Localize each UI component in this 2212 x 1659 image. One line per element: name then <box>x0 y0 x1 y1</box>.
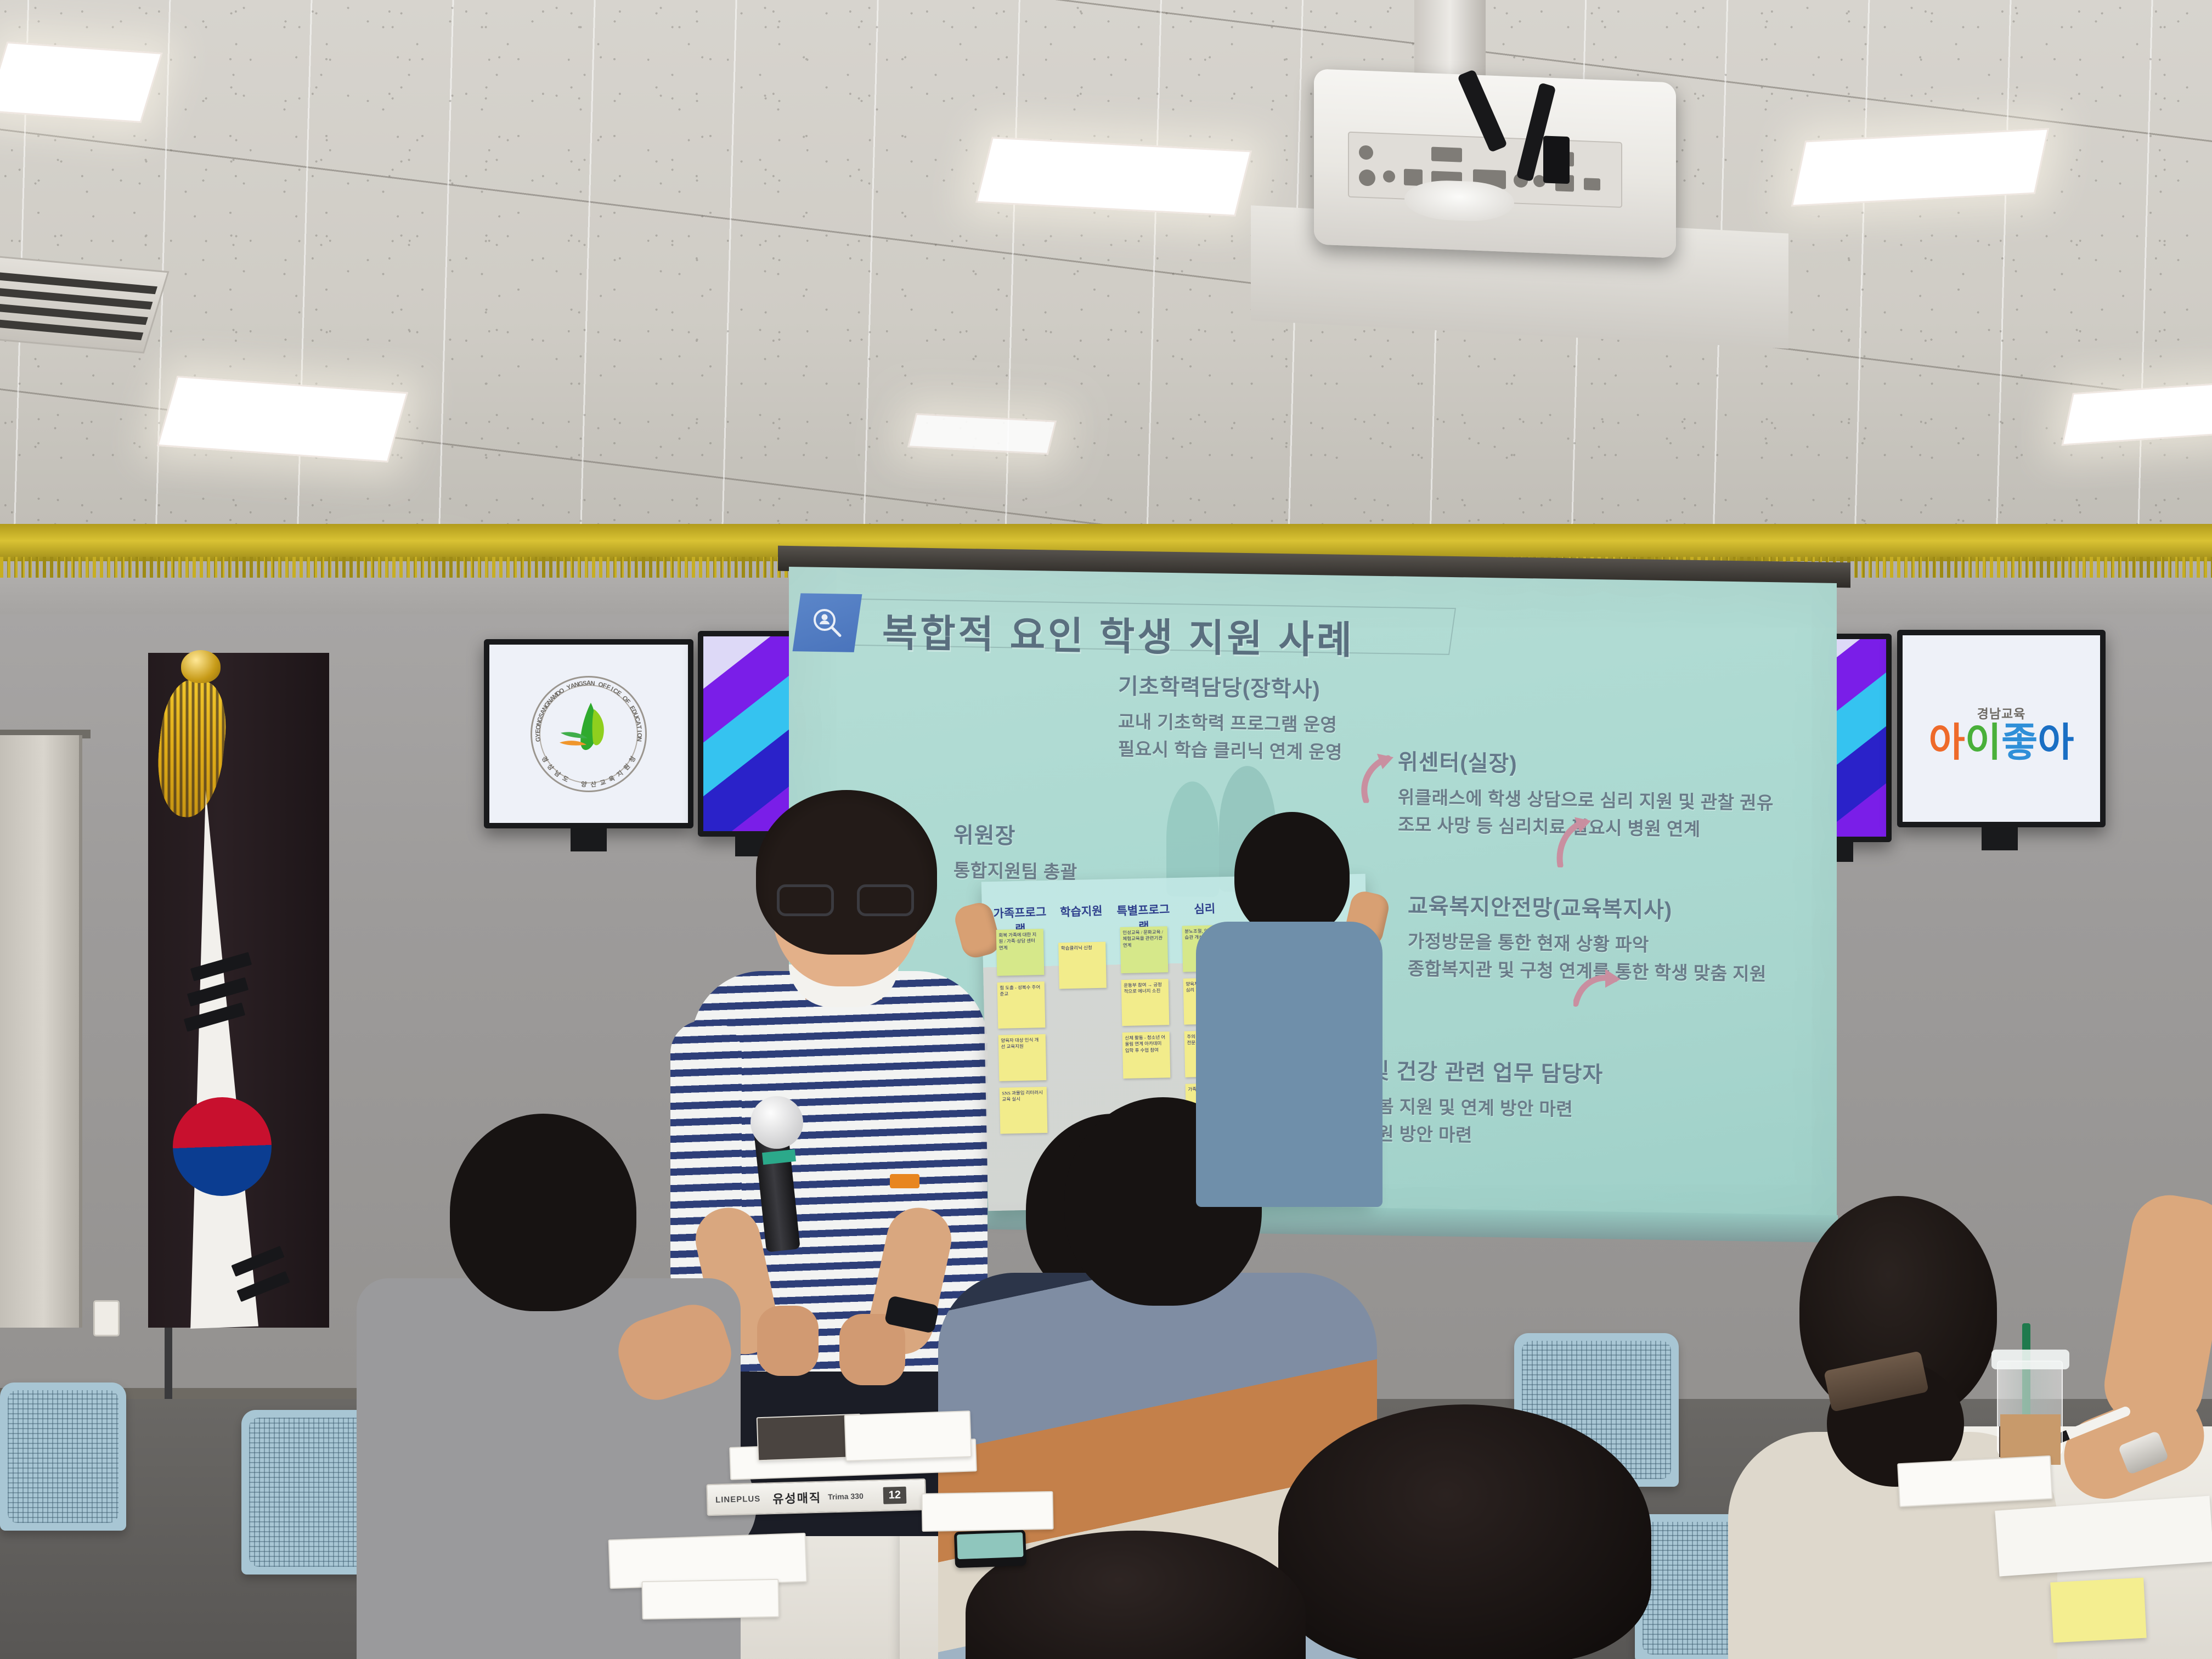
logo-main-text: 아이좋아 <box>1919 724 2084 761</box>
sticky-note: 양육자 대상 인식 개선 교육지원 <box>998 1034 1046 1081</box>
slide-block-heading: 위센터(실장) <box>1398 744 1831 782</box>
slide-title: 복합적 요인 학생 지원 사례 <box>882 602 1442 667</box>
sticky-note: 신체 활동 - 청소년 어울림 연계 아카데미 입학 후 수업 참여 <box>1122 1031 1170 1079</box>
monitor-left-screen: GYEONGSANGNAMDO YANGSAN OFFICE OF EDUCAT… <box>489 645 688 823</box>
sticky-note: 힘 도출 - 성복수 주어 준교 <box>997 981 1045 1029</box>
curved-arrow-icon <box>1356 750 1407 803</box>
projector-icon <box>1314 69 1676 258</box>
flag-finial-icon <box>181 650 221 683</box>
conference-room-photo: GYEONGSANGNAMDO YANGSAN OFFICE OF EDUCAT… <box>0 0 2212 1659</box>
hvac-vent-icon <box>0 256 170 354</box>
logo-subtitle: 경남교육 <box>1919 703 2084 722</box>
chair[interactable] <box>0 1383 126 1531</box>
slide-block-heading: 기초학력담당(장학사) <box>1118 668 1458 706</box>
slide-block-heading: 교육복지안전망(교육복지사) <box>1408 888 1847 927</box>
monitor-right-stand <box>1982 827 2018 850</box>
seal-ring-text: GYEONGSANGNAMDO YANGSAN OFFICE OF EDUCAT… <box>532 678 645 791</box>
cup-lid <box>1991 1350 2069 1369</box>
glasses-icon <box>777 884 914 917</box>
ceiling-light-panel <box>0 42 162 123</box>
sticky-note: 회복 가족에 대한 지원 / 가족·상담 센터 연계 <box>996 929 1044 976</box>
ceiling-texture <box>0 0 2212 582</box>
paper-box <box>641 1579 779 1620</box>
assistant-holding-poster <box>1174 812 1404 1196</box>
ceiling-light-panel <box>975 137 1252 216</box>
attendee-front <box>1278 1404 1651 1659</box>
ceiling <box>0 0 2212 582</box>
slide-block-wee-center: 위센터(실장) 위클래스에 학생 상담으로 심리 지원 및 관찰 권유 조모 사… <box>1398 744 1831 845</box>
product-box <box>844 1410 972 1462</box>
marker-model: Trima 330 <box>821 1492 864 1502</box>
shirt-logo <box>890 1174 919 1188</box>
sticky-note: 운동부 참여 → 긍정적으로 에너지 소진 <box>1121 979 1169 1026</box>
sticky-note: 학습클리닉 신청 <box>1058 942 1107 989</box>
head <box>450 1114 636 1311</box>
head <box>1278 1404 1651 1659</box>
gyeongnam-education-logo: 경남교육 아이좋아 <box>1919 703 2084 761</box>
curved-arrow-icon <box>1553 815 1603 868</box>
wall-outlet-icon <box>93 1300 120 1336</box>
presenter-hand <box>757 1306 819 1376</box>
smartphone-icon[interactable] <box>954 1530 1026 1568</box>
monitor-right-screen: 경남교육 아이좋아 <box>1903 635 2100 822</box>
education-office-seal-icon: GYEONGSANGNAMDO YANGSAN OFFICE OF EDUCAT… <box>531 676 647 792</box>
curved-arrow-icon <box>1573 963 1624 1016</box>
person-search-icon <box>793 593 862 652</box>
sticky-note-pad[interactable] <box>2050 1578 2147 1643</box>
ceiling-light-panel <box>1791 128 2049 206</box>
monitor-left-stand <box>571 828 607 851</box>
room-door[interactable] <box>0 735 82 1328</box>
marker-box[interactable]: LINEPLUS 유성매직 Trima 330 12 <box>706 1479 926 1516</box>
presenter-hair <box>756 790 937 955</box>
monitor-right[interactable]: 경남교육 아이좋아 <box>1897 630 2106 827</box>
torso <box>1196 922 1383 1207</box>
marker-count: 12 <box>883 1486 906 1504</box>
paper-stack <box>1897 1455 2053 1508</box>
marker-brand: LINEPLUS <box>708 1494 761 1505</box>
sticky-note: 인성교육 / 문화교육 / 체험교육을 관련기관 연계 <box>1120 926 1168 973</box>
monitor-left[interactable]: GYEONGSANGNAMDO YANGSAN OFFICE OF EDUCAT… <box>484 639 693 828</box>
marker-title: 유성매직 <box>760 1488 822 1508</box>
slide-block-edu-welfare-net: 교육복지안전망(교육복지사) 가정방문을 통한 현재 상황 파악 종합복지관 및… <box>1408 888 1847 990</box>
head <box>1234 812 1350 938</box>
paper-stack <box>921 1491 1053 1532</box>
